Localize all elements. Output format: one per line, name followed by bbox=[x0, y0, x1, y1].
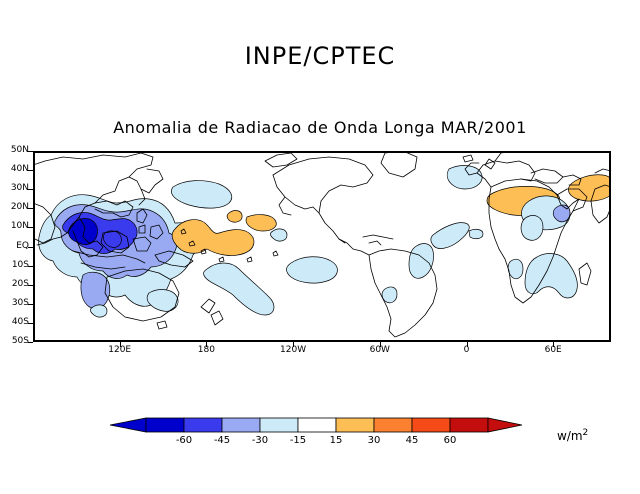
map-plot-area: 50N40N30N20N10NEQ10S20S30S40S50S 120E180… bbox=[33, 151, 611, 342]
colorbar-swatch bbox=[146, 418, 184, 432]
y-axis-label: 50N bbox=[0, 145, 29, 155]
main-title: INPE/CPTEC bbox=[0, 42, 640, 70]
shading-north-pacific bbox=[171, 181, 231, 209]
y-axis-label: 30S bbox=[0, 298, 29, 308]
colorbar: -60-45-30-1515304560 bbox=[108, 416, 568, 456]
x-axis-label: 180 bbox=[183, 345, 229, 355]
shading-arabia-india-positive bbox=[568, 175, 611, 201]
colorbar-tick-label: -15 bbox=[278, 435, 318, 446]
shading-mid-pacific-small bbox=[270, 229, 287, 241]
colorbar-swatch bbox=[336, 418, 374, 432]
colorbar-swatches bbox=[108, 416, 568, 434]
colorbar-tick-label: 60 bbox=[430, 435, 470, 446]
colorbar-swatch bbox=[412, 418, 450, 432]
chart-subtitle: Anomalia de Radiacao de Onda Longa MAR/2… bbox=[0, 118, 640, 137]
shading-brazil-coast bbox=[409, 244, 434, 279]
shading-spcz bbox=[204, 263, 274, 315]
shading-east-africa-tail bbox=[521, 215, 543, 240]
colorbar-tick-label: -45 bbox=[202, 435, 242, 446]
shading-atlantic-itcz bbox=[431, 223, 470, 249]
colorbar-swatch bbox=[374, 418, 412, 432]
y-axis-label: EQ bbox=[0, 241, 29, 251]
y-axis-label: 20S bbox=[0, 279, 29, 289]
x-axis-label: 120W bbox=[270, 345, 316, 355]
shading-pacific-positive-small bbox=[227, 211, 242, 223]
x-axis-label: 60W bbox=[357, 345, 403, 355]
x-axis-label: 60E bbox=[530, 345, 576, 355]
colorbar-tick-label: 30 bbox=[354, 435, 394, 446]
y-axis-label: 10S bbox=[0, 260, 29, 270]
units-exponent: 2 bbox=[583, 428, 589, 438]
shading-central-pacific-positive bbox=[172, 220, 254, 256]
shading-west-africa-small bbox=[508, 259, 523, 278]
anomaly-shading bbox=[39, 166, 611, 318]
y-axis-label: 30N bbox=[0, 183, 29, 193]
shading-horn-africa-core bbox=[553, 205, 570, 222]
map-canvas bbox=[33, 151, 611, 342]
x-axis-label: 0 bbox=[444, 345, 490, 355]
colorbar-swatch bbox=[260, 418, 298, 432]
colorbar-tick-label: 45 bbox=[392, 435, 432, 446]
colorbar-swatch bbox=[450, 418, 488, 432]
y-axis-label: 50S bbox=[0, 336, 29, 346]
y-axis-label: 40N bbox=[0, 164, 29, 174]
colorbar-tick-label: -60 bbox=[164, 435, 204, 446]
shading-east-pacific bbox=[287, 257, 338, 283]
y-axis-label: 40S bbox=[0, 317, 29, 327]
y-axis-label: 10N bbox=[0, 221, 29, 231]
y-axis-label: 20N bbox=[0, 202, 29, 212]
shading-atlantic-dot bbox=[469, 229, 483, 238]
colorbar-extend-low bbox=[110, 418, 146, 432]
colorbar-tick-label: 15 bbox=[316, 435, 356, 446]
colorbar-swatch bbox=[222, 418, 260, 432]
x-axis-label: 120E bbox=[97, 345, 143, 355]
colorbar-extend-high bbox=[488, 418, 522, 432]
colorbar-tick-label: -30 bbox=[240, 435, 280, 446]
colorbar-swatch bbox=[184, 418, 222, 432]
figure-root: INPE/CPTEC Anomalia de Radiacao de Onda … bbox=[0, 0, 640, 494]
units-text: w/m bbox=[557, 429, 583, 443]
colorbar-swatch bbox=[298, 418, 336, 432]
shading-south-indian bbox=[90, 305, 107, 317]
shading-chile-coast bbox=[382, 287, 397, 303]
shading-southern-africa bbox=[525, 254, 577, 298]
shading-pacific-positive-east bbox=[246, 215, 276, 231]
units-label: w/m2 bbox=[557, 428, 588, 443]
